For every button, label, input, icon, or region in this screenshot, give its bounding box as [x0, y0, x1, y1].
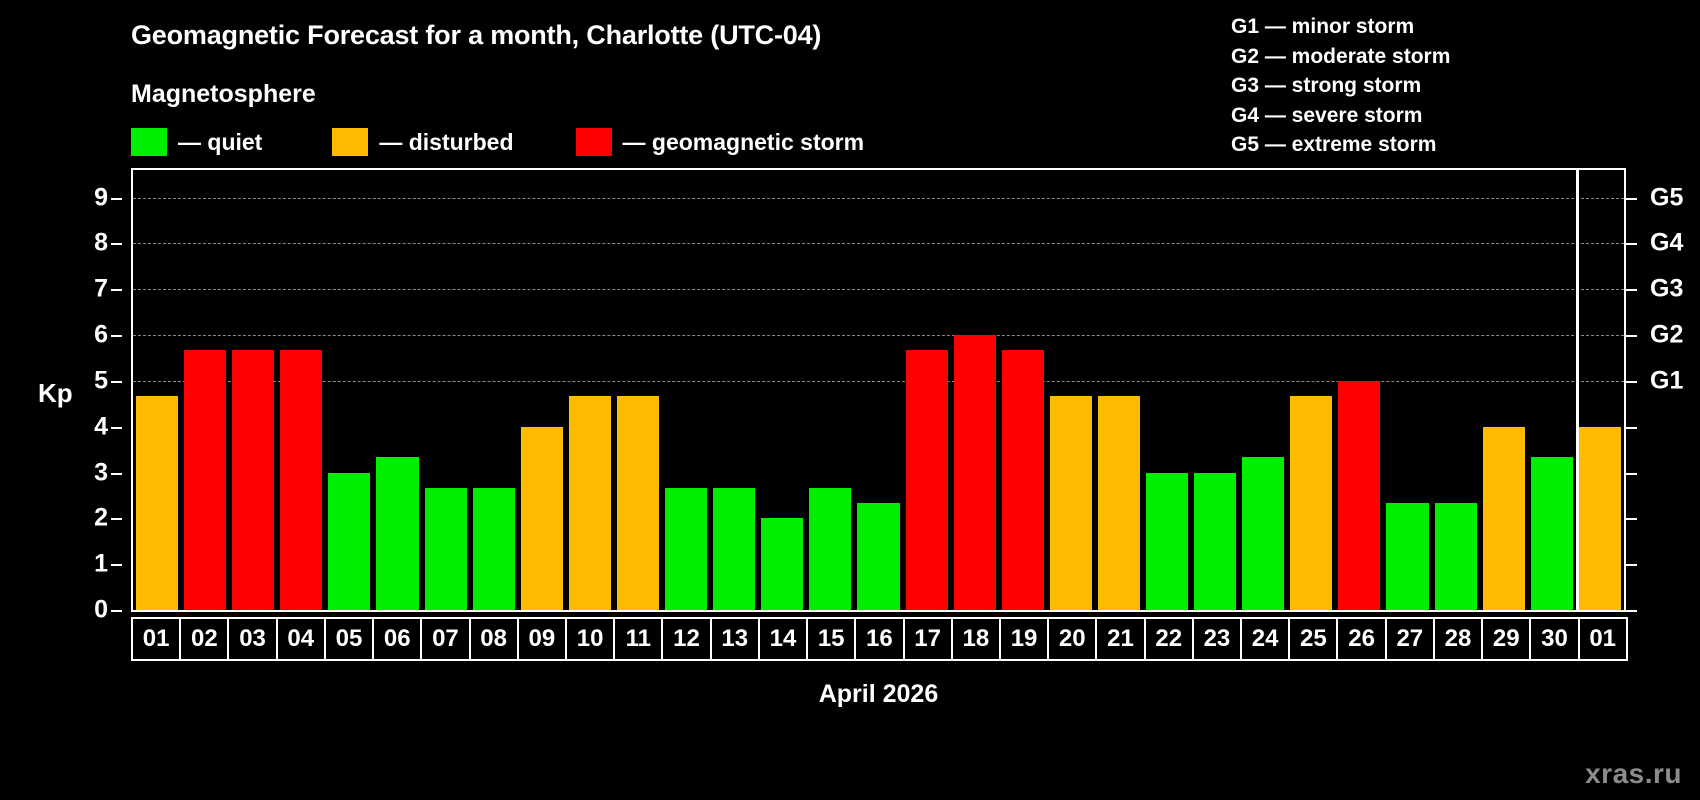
- bars-container: [133, 170, 1624, 610]
- bar-day-08[interactable]: [473, 488, 515, 610]
- y-tick-label-0: 0: [94, 596, 108, 625]
- bar-slot: [1528, 170, 1576, 610]
- page-title: Geomagnetic Forecast for a month, Charlo…: [131, 20, 821, 51]
- y-tick-label-1: 1: [94, 550, 108, 579]
- day-label-16[interactable]: 16: [854, 617, 904, 661]
- bar-slot: [181, 170, 229, 610]
- bar-day-01[interactable]: [136, 396, 178, 610]
- day-label-22[interactable]: 22: [1144, 617, 1194, 661]
- bar-day-04[interactable]: [280, 350, 322, 610]
- day-label-02[interactable]: 02: [179, 617, 229, 661]
- magnetosphere-legend: — quiet — disturbed — geomagnetic storm: [131, 127, 864, 157]
- plot-area: [131, 168, 1626, 612]
- day-label-01[interactable]: 01: [131, 617, 181, 661]
- bar-slot: [229, 170, 277, 610]
- bar-day-18[interactable]: [954, 335, 996, 610]
- day-label-06[interactable]: 06: [372, 617, 422, 661]
- bar-day-27[interactable]: [1386, 503, 1428, 610]
- day-label-01-next[interactable]: 01: [1578, 617, 1628, 661]
- bar-slot: [1239, 170, 1287, 610]
- g-tick-mark: [1626, 335, 1637, 337]
- day-label-29[interactable]: 29: [1481, 617, 1531, 661]
- bar-slot: [133, 170, 181, 610]
- g-tick-mark: [1626, 289, 1637, 291]
- y-tick-label-2: 2: [94, 504, 108, 533]
- g-scale-row-g4: G4 — severe storm: [1231, 101, 1450, 131]
- magnetosphere-heading: Magnetosphere: [131, 80, 316, 109]
- legend-label-disturbed: — disturbed: [379, 129, 513, 156]
- legend-item-disturbed: — disturbed: [332, 127, 513, 157]
- g-minor-tick-mark: [1626, 473, 1637, 475]
- bar-day-05[interactable]: [328, 473, 370, 611]
- g-tick-mark: [1626, 198, 1637, 200]
- g-tick-label-G1: G1: [1650, 366, 1683, 395]
- bar-slot: [854, 170, 902, 610]
- bar-slot: [1095, 170, 1143, 610]
- day-label-30[interactable]: 30: [1529, 617, 1579, 661]
- y-tick-mark: [111, 289, 122, 291]
- bar-slot: [614, 170, 662, 610]
- legend-label-quiet: — quiet: [178, 129, 262, 156]
- day-label-08[interactable]: 08: [469, 617, 519, 661]
- bar-day-26[interactable]: [1338, 381, 1380, 610]
- day-label-27[interactable]: 27: [1385, 617, 1435, 661]
- g-tick-mark: [1626, 381, 1637, 383]
- x-axis-day-labels: 0102030405060708091011121314151617181920…: [131, 617, 1626, 661]
- g-scale-row-g3: G3 — strong storm: [1231, 71, 1450, 101]
- legend-item-storm: — geomagnetic storm: [576, 127, 865, 157]
- y-tick-label-4: 4: [94, 412, 108, 441]
- day-label-28[interactable]: 28: [1433, 617, 1483, 661]
- g-scale-legend: G1 — minor storm G2 — moderate storm G3 …: [1231, 12, 1450, 160]
- y-tick-label-7: 7: [94, 275, 108, 304]
- bar-day-14[interactable]: [761, 518, 803, 610]
- g-scale-row-g5: G5 — extreme storm: [1231, 130, 1450, 160]
- g-scale-axis: G1G2G3G4G5: [1626, 168, 1700, 612]
- day-label-21[interactable]: 21: [1095, 617, 1145, 661]
- g-minor-tick-mark: [1626, 427, 1637, 429]
- bar-day-30[interactable]: [1531, 457, 1573, 610]
- day-label-18[interactable]: 18: [951, 617, 1001, 661]
- day-label-17[interactable]: 17: [903, 617, 953, 661]
- legend-item-quiet: — quiet: [131, 127, 262, 157]
- day-label-07[interactable]: 07: [420, 617, 470, 661]
- bar-day-25[interactable]: [1290, 396, 1332, 610]
- bar-slot: [1335, 170, 1383, 610]
- bar-slot: [710, 170, 758, 610]
- y-axis-title: Kp: [38, 378, 73, 409]
- g-minor-tick-mark: [1626, 610, 1637, 612]
- legend-label-storm: — geomagnetic storm: [623, 129, 865, 156]
- y-tick-mark: [111, 335, 122, 337]
- bar-day-11[interactable]: [617, 396, 659, 610]
- y-tick-mark: [111, 610, 122, 612]
- plot-inner: [133, 170, 1624, 610]
- bar-day-03[interactable]: [232, 350, 274, 610]
- g-tick-label-G5: G5: [1650, 183, 1683, 212]
- y-tick-mark: [111, 381, 122, 383]
- bar-slot: [566, 170, 614, 610]
- g-scale-row-g1: G1 — minor storm: [1231, 12, 1450, 42]
- bar-slot: [1576, 170, 1624, 610]
- bar-slot: [1480, 170, 1528, 610]
- day-label-26[interactable]: 26: [1336, 617, 1386, 661]
- watermark: xras.ru: [1585, 758, 1682, 790]
- bar-slot: [662, 170, 710, 610]
- y-tick-label-6: 6: [94, 321, 108, 350]
- day-label-05[interactable]: 05: [324, 617, 374, 661]
- bar-day-28[interactable]: [1435, 503, 1477, 610]
- day-label-14[interactable]: 14: [758, 617, 808, 661]
- y-tick-label-5: 5: [94, 366, 108, 395]
- bar-slot: [470, 170, 518, 610]
- bar-day-09[interactable]: [521, 427, 563, 610]
- bar-slot: [1432, 170, 1480, 610]
- y-tick-mark: [111, 243, 122, 245]
- bar-day-13[interactable]: [713, 488, 755, 610]
- bar-slot: [1383, 170, 1431, 610]
- bar-slot: [1287, 170, 1335, 610]
- x-axis-title: April 2026: [131, 680, 1626, 709]
- day-label-11[interactable]: 11: [613, 617, 663, 661]
- bar-day-10[interactable]: [569, 396, 611, 610]
- day-label-09[interactable]: 09: [517, 617, 567, 661]
- y-tick-label-9: 9: [94, 183, 108, 212]
- g-tick-label-G4: G4: [1650, 229, 1683, 258]
- day-label-23[interactable]: 23: [1192, 617, 1242, 661]
- day-label-03[interactable]: 03: [227, 617, 277, 661]
- day-label-15[interactable]: 15: [806, 617, 856, 661]
- bar-day-02[interactable]: [184, 350, 226, 610]
- bar-day-15[interactable]: [809, 488, 851, 610]
- bar-slot: [277, 170, 325, 610]
- bar-slot: [1191, 170, 1239, 610]
- bar-day-12[interactable]: [665, 488, 707, 610]
- y-tick-label-8: 8: [94, 229, 108, 258]
- bar-slot: [903, 170, 951, 610]
- y-tick-mark: [111, 198, 122, 200]
- g-scale-row-g2: G2 — moderate storm: [1231, 42, 1450, 72]
- bar-day-16[interactable]: [857, 503, 899, 610]
- day-label-24[interactable]: 24: [1240, 617, 1290, 661]
- storm-swatch: [576, 128, 612, 156]
- bar-slot: [758, 170, 806, 610]
- bar-day-17[interactable]: [906, 350, 948, 610]
- bar-slot: [325, 170, 373, 610]
- g-tick-label-G3: G3: [1650, 275, 1683, 304]
- bar-slot: [422, 170, 470, 610]
- g-tick-mark: [1626, 243, 1637, 245]
- day-label-20[interactable]: 20: [1047, 617, 1097, 661]
- bar-day-23[interactable]: [1194, 473, 1236, 611]
- bar-slot: [951, 170, 999, 610]
- y-axis: 0123456789: [82, 168, 122, 612]
- bar-slot: [1047, 170, 1095, 610]
- bar-day-07[interactable]: [425, 488, 467, 610]
- y-tick-mark: [111, 427, 122, 429]
- forecast-separator-line: [1576, 170, 1579, 610]
- bar-day-21[interactable]: [1098, 396, 1140, 610]
- bar-day-24[interactable]: [1242, 457, 1284, 610]
- y-tick-mark: [111, 518, 122, 520]
- day-label-12[interactable]: 12: [661, 617, 711, 661]
- bar-day-19[interactable]: [1002, 350, 1044, 610]
- bar-day-29[interactable]: [1483, 427, 1525, 610]
- bar-slot: [999, 170, 1047, 610]
- bar-slot: [518, 170, 566, 610]
- bar-day-01-next[interactable]: [1579, 427, 1621, 610]
- y-tick-mark: [111, 564, 122, 566]
- quiet-swatch: [131, 128, 167, 156]
- bar-slot: [1143, 170, 1191, 610]
- day-label-04[interactable]: 04: [276, 617, 326, 661]
- y-tick-mark: [111, 473, 122, 475]
- bar-slot: [373, 170, 421, 610]
- day-label-10[interactable]: 10: [565, 617, 615, 661]
- bar-day-06[interactable]: [376, 457, 418, 610]
- bar-day-22[interactable]: [1146, 473, 1188, 611]
- day-label-19[interactable]: 19: [999, 617, 1049, 661]
- g-minor-tick-mark: [1626, 564, 1637, 566]
- day-label-13[interactable]: 13: [710, 617, 760, 661]
- y-tick-label-3: 3: [94, 458, 108, 487]
- bar-slot: [806, 170, 854, 610]
- g-tick-label-G2: G2: [1650, 321, 1683, 350]
- day-label-25[interactable]: 25: [1288, 617, 1338, 661]
- bar-day-20[interactable]: [1050, 396, 1092, 610]
- disturbed-swatch: [332, 128, 368, 156]
- g-minor-tick-mark: [1626, 518, 1637, 520]
